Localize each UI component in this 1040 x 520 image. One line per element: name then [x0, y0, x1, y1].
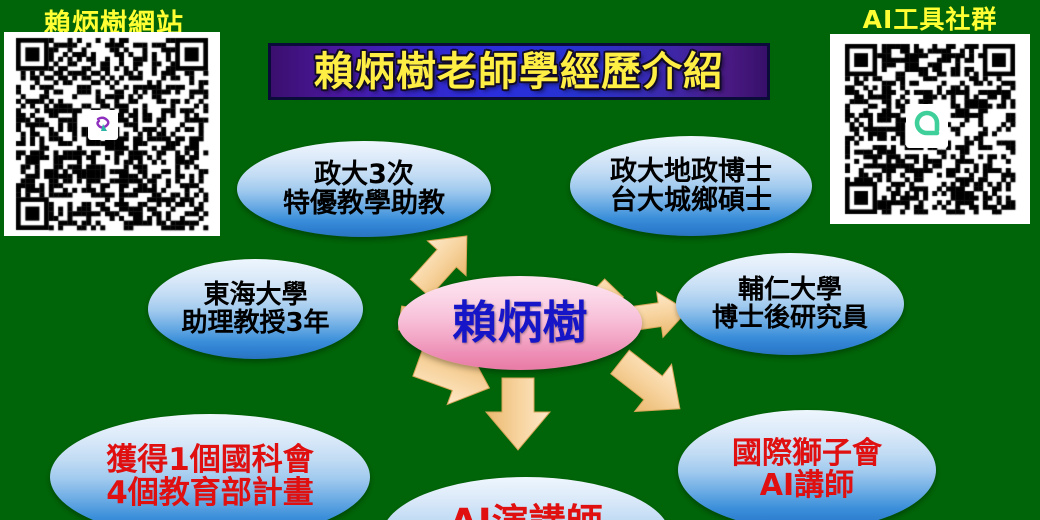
node-nccu-ta-line-2: 特優教學助教 [283, 189, 445, 218]
slide-canvas: 賴炳樹網站 AI工具社群 賴炳樹老師學經歷介紹 [0, 0, 1040, 520]
node-ai-speaker-line-1: AI演講師 [449, 503, 602, 520]
arrow-down [486, 378, 550, 450]
center-node-label: 賴炳樹 [452, 299, 587, 348]
node-fujen-line-1: 輔仁大學 [738, 276, 842, 304]
node-tunghai-line-1: 東海大學 [203, 281, 307, 309]
node-grants-line-2: 4個教育部計畫 [106, 477, 314, 510]
node-grants-line-1: 獲得1個國科會 [106, 444, 314, 477]
node-degrees-line-2: 台大城鄉碩士 [610, 186, 772, 215]
node-degrees[interactable]: 政大地政博士 台大城鄉碩士 [570, 136, 812, 236]
node-lions[interactable]: 國際獅子會 AI講師 [678, 410, 936, 520]
node-nccu-ta-line-1: 政大3次 [314, 160, 414, 189]
node-tunghai-line-2: 助理教授3年 [181, 309, 329, 337]
node-degrees-line-1: 政大地政博士 [610, 157, 772, 186]
center-node[interactable]: 賴炳樹 [398, 276, 642, 370]
node-nccu-ta[interactable]: 政大3次 特優教學助教 [237, 141, 491, 237]
arrow-down-right [602, 338, 699, 432]
node-fujen-line-2: 博士後研究員 [712, 304, 868, 332]
node-fujen[interactable]: 輔仁大學 博士後研究員 [676, 253, 904, 355]
node-tunghai[interactable]: 東海大學 助理教授3年 [148, 259, 363, 359]
node-lions-line-2: AI講師 [760, 470, 854, 502]
node-lions-line-1: 國際獅子會 [732, 438, 882, 470]
